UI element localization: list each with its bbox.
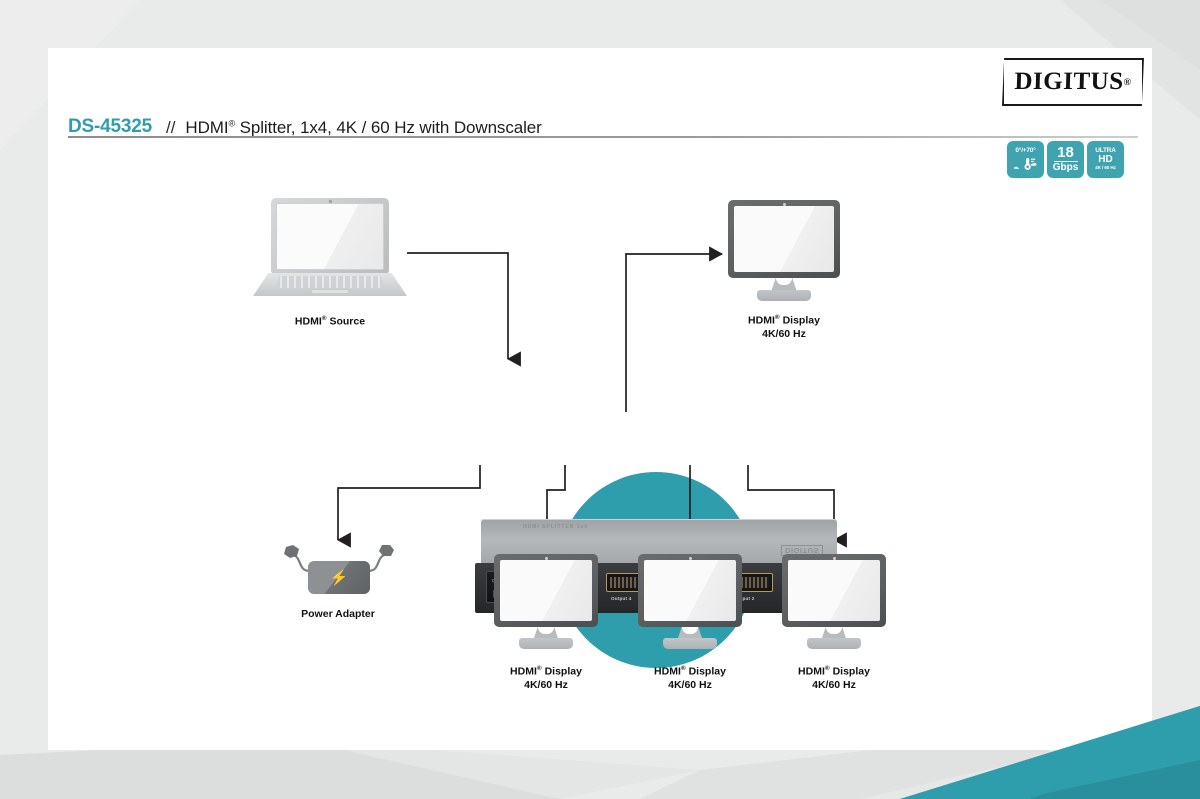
display-3-label-rest: Display [686, 666, 726, 678]
logo-word: DIGITUS [1014, 68, 1124, 96]
display-2-label-hdmi: HDMI [510, 666, 537, 678]
power-adapter: ⚡ [278, 543, 398, 603]
display-4 [782, 554, 886, 627]
display-2-screen [500, 560, 592, 621]
product-sku: DS-45325 [68, 116, 152, 138]
display-3-label-hdmi: HDMI [654, 666, 681, 678]
page-title: DS-45325 // HDMI® Splitter, 1x4, 4K / 60… [68, 108, 1138, 138]
laptop-camera-icon [329, 200, 332, 203]
title-separator: // [166, 118, 175, 138]
product-title-hdmi: HDMI [185, 118, 228, 137]
power-plug-left-icon [284, 545, 299, 558]
connection-arrows [48, 150, 1152, 750]
display-4-bezel [782, 554, 886, 627]
product-title-rest: Splitter, 1x4, 4K / 60 Hz with Downscale… [235, 118, 542, 137]
display-3-screen [644, 560, 736, 621]
hdmi-source-laptop [253, 198, 407, 298]
display-3-label: HDMI® Display 4K/60 Hz [610, 665, 770, 692]
display-4-label: HDMI® Display 4K/60 Hz [754, 665, 914, 692]
connection-diagram: HDMI® Source HDMI® Display 4K/60 Hz HDMI… [48, 150, 1152, 750]
display-1-label: HDMI® Display 4K/60 Hz [704, 314, 864, 341]
laptop-screen [276, 203, 384, 270]
digitus-logo: DIGITUS® [1002, 58, 1144, 106]
arrow-source-to-input [407, 253, 508, 359]
lightning-bolt-icon: ⚡ [330, 570, 349, 585]
source-label-rest: Source [327, 316, 366, 328]
power-adapter-label: Power Adapter [288, 608, 388, 621]
display-1-label-rest: Display [780, 315, 820, 327]
laptop-trackpad [311, 289, 349, 294]
display-3-label-line2: 4K/60 Hz [668, 679, 712, 691]
display-4-label-hdmi: HDMI [798, 666, 825, 678]
source-label-hdmi: HDMI [295, 316, 322, 328]
display-2-label-line2: 4K/60 Hz [524, 679, 568, 691]
display-1 [728, 200, 840, 278]
display-1-label-line2: 4K/60 Hz [762, 328, 806, 340]
display-1-foot [757, 290, 811, 301]
hdmi-port-output-4-label: Output 4 [611, 596, 631, 601]
display-4-foot [807, 638, 861, 649]
display-2-label: HDMI® Display 4K/60 Hz [466, 665, 626, 692]
display-2 [494, 554, 598, 627]
laptop-lid [271, 198, 389, 275]
display-2-label-rest: Display [542, 666, 582, 678]
display-1-camera-icon [783, 203, 786, 206]
arrow-device-to-power-adapter [338, 465, 480, 540]
display-2-foot [519, 638, 573, 649]
hdmi-source-label: HDMI® Source [248, 315, 412, 329]
display-4-screen [788, 560, 880, 621]
display-2-bezel [494, 554, 598, 627]
display-4-label-rest: Display [830, 666, 870, 678]
power-plug-right-icon [379, 545, 394, 556]
display-3 [638, 554, 742, 627]
device-top-print: HDMI SPLITTER 1x4 [523, 524, 588, 530]
display-3-bezel [638, 554, 742, 627]
power-adapter-brick: ⚡ [308, 561, 370, 594]
display-3-foot [663, 638, 717, 649]
display-3-camera-icon [689, 557, 692, 560]
product-title: HDMI® Splitter, 1x4, 4K / 60 Hz with Dow… [185, 118, 541, 138]
display-1-bezel [728, 200, 840, 278]
display-4-label-line2: 4K/60 Hz [812, 679, 856, 691]
title-divider [68, 136, 1138, 138]
display-1-label-hdmi: HDMI [748, 315, 775, 327]
laptop-keyboard [275, 276, 385, 288]
display-4-camera-icon [833, 557, 836, 560]
logo-registered-mark: ® [1123, 77, 1131, 88]
display-2-camera-icon [545, 557, 548, 560]
display-1-screen [734, 206, 834, 272]
logo-wordmark: DIGITUS® [1001, 58, 1144, 106]
